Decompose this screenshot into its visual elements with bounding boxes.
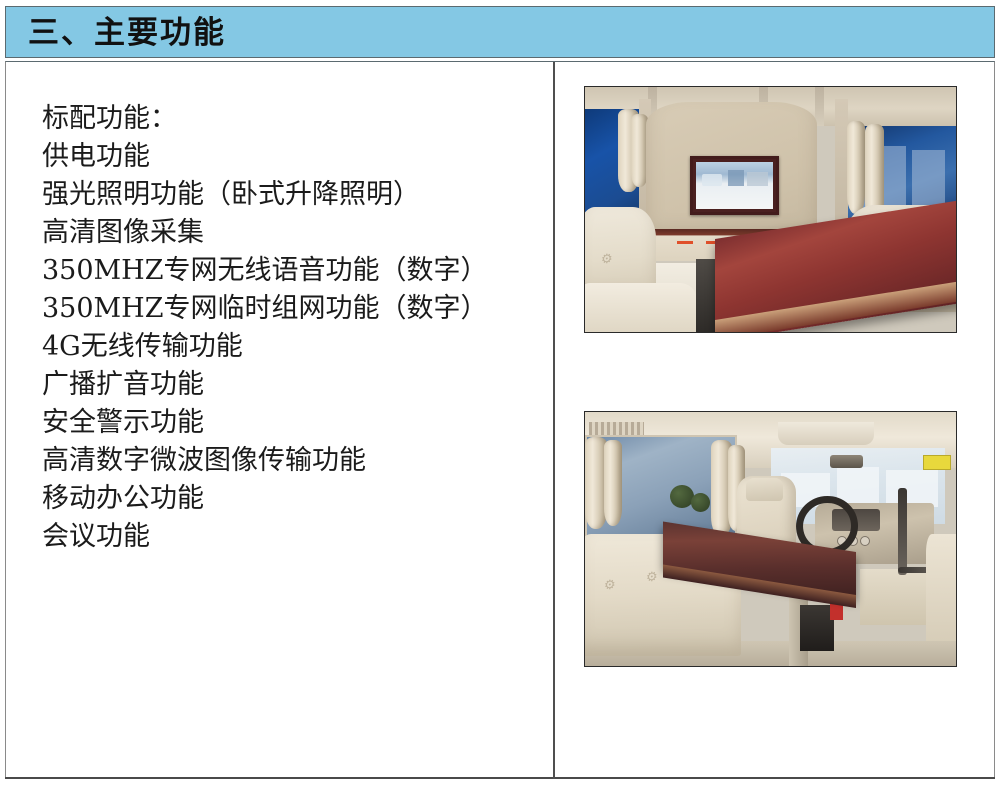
seat-emboss-icon: ⚙ — [601, 251, 614, 268]
tv-image-region — [747, 172, 769, 186]
seat-left-cushion — [585, 283, 696, 332]
seat-emboss-icon: ⚙ — [604, 577, 617, 594]
driver-headrest — [746, 478, 783, 501]
list-item: 移动办公功能 — [42, 480, 542, 518]
section-header-banner: 三、主要功能 — [5, 6, 995, 58]
windshield-building — [886, 470, 938, 507]
floor-equipment — [800, 605, 833, 651]
tv-image-region — [728, 170, 743, 186]
window-building — [912, 150, 945, 209]
feature-list: 标配功能： 供电功能 强光照明功能（卧式升降照明） 高清图像采集 350MHZ专… — [42, 100, 542, 556]
tv-screen — [696, 162, 773, 210]
slide-root: 三、主要功能 标配功能： 供电功能 强光照明功能（卧式升降照明） 高清图像采集 … — [0, 0, 1000, 787]
curtain-left-2 — [604, 440, 623, 526]
ceiling-vent — [589, 422, 645, 435]
list-item: 会议功能 — [42, 518, 542, 556]
list-item: 强光照明功能（卧式升降照明） — [42, 176, 542, 214]
photo-content: ⚙ ⚙ ⚙ — [585, 87, 956, 332]
dash-knob — [860, 536, 870, 546]
curtain-right — [847, 121, 866, 214]
window-building — [882, 146, 906, 209]
seat-emboss-icon: ⚙ — [646, 570, 659, 587]
list-item: 高清图像采集 — [42, 214, 542, 252]
list-item: 4G无线传输功能 — [42, 328, 542, 366]
window-shrub — [691, 493, 710, 512]
yellow-sign — [923, 455, 951, 470]
list-item: 350MHZ专网临时组网功能（数字） — [42, 290, 542, 328]
roof-console — [778, 422, 874, 445]
tv-image-region — [702, 174, 722, 186]
console-indicator — [677, 241, 693, 245]
list-item: 350MHZ专网无线语音功能（数字） — [42, 252, 542, 290]
tv-monitor — [690, 156, 779, 216]
rearview-mirror — [830, 455, 863, 468]
list-item: 广播扩音功能 — [42, 366, 542, 404]
photo-vehicle-interior-cab-view: ⚙ ⚙ ⚙ — [584, 411, 957, 667]
page-title: 三、主要功能 — [28, 14, 226, 52]
list-item: 供电功能 — [42, 138, 542, 176]
list-item: 标配功能： — [42, 100, 542, 138]
column-divider — [553, 62, 555, 779]
grab-handrail — [898, 488, 907, 574]
list-item: 高清数字微波图像传输功能 — [42, 442, 542, 480]
list-item: 安全警示功能 — [42, 404, 542, 442]
photo-content: ⚙ ⚙ ⚙ — [585, 412, 956, 666]
photo-vehicle-interior-conference: ⚙ ⚙ ⚙ — [584, 86, 957, 333]
